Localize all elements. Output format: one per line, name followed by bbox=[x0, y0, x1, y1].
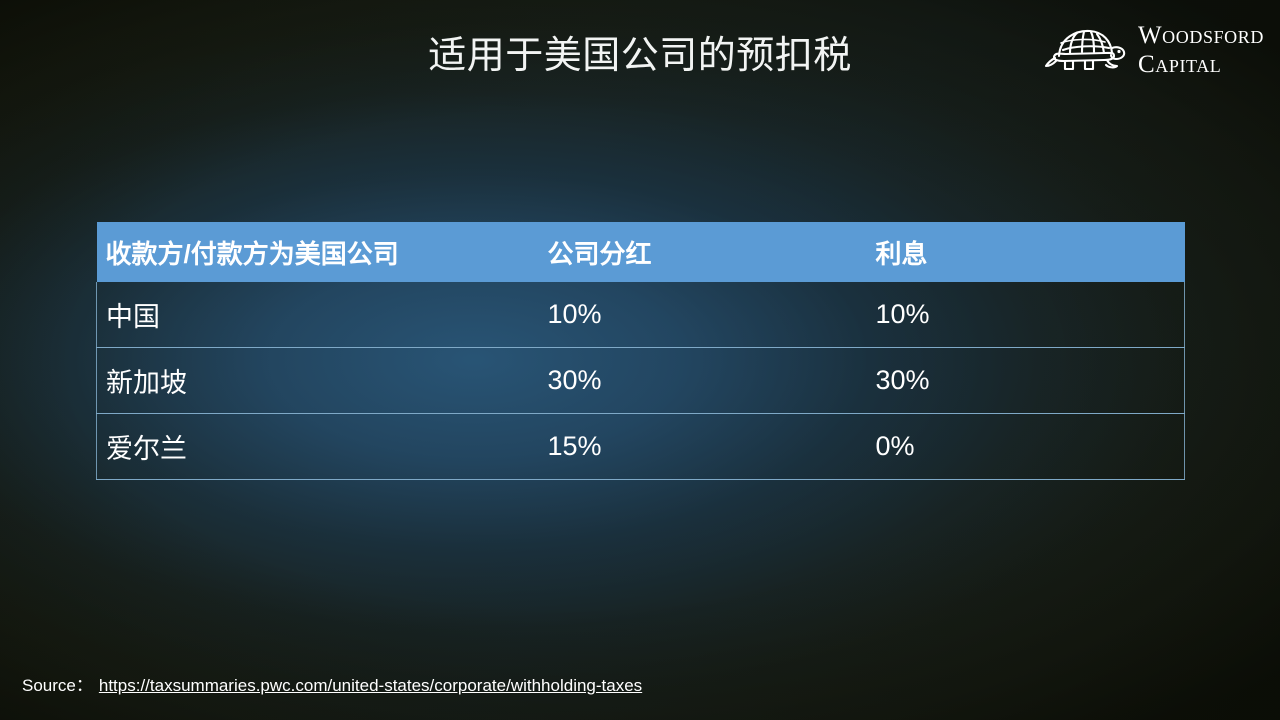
cell-dividends: 30% bbox=[539, 348, 867, 414]
logo-line-woodsford: Woodsford bbox=[1138, 23, 1264, 48]
column-header-interest: 利息 bbox=[867, 222, 1185, 282]
cell-interest: 0% bbox=[867, 414, 1185, 480]
brand-logo: Woodsford Capital bbox=[1043, 22, 1264, 78]
withholding-tax-table: 收款方/付款方为美国公司 公司分红 利息 中国 10% 10% 新加坡 30% … bbox=[96, 222, 1185, 480]
cell-country: 中国 bbox=[97, 282, 539, 348]
table-header-row: 收款方/付款方为美国公司 公司分红 利息 bbox=[97, 222, 1185, 282]
logo-wordmark: Woodsford Capital bbox=[1138, 23, 1264, 77]
column-header-dividends: 公司分红 bbox=[539, 222, 867, 282]
cell-dividends: 15% bbox=[539, 414, 867, 480]
cell-interest: 10% bbox=[867, 282, 1185, 348]
table-row: 中国 10% 10% bbox=[97, 282, 1185, 348]
source-footer: Source：https://taxsummaries.pwc.com/unit… bbox=[22, 671, 642, 696]
logo-line-capital: Capital bbox=[1138, 52, 1264, 77]
source-link[interactable]: https://taxsummaries.pwc.com/united-stat… bbox=[99, 676, 642, 695]
column-header-recipient: 收款方/付款方为美国公司 bbox=[97, 222, 539, 282]
source-label: Source： bbox=[22, 676, 93, 695]
table-row: 新加坡 30% 30% bbox=[97, 348, 1185, 414]
cell-interest: 30% bbox=[867, 348, 1185, 414]
cell-country: 爱尔兰 bbox=[97, 414, 539, 480]
turtle-icon bbox=[1043, 22, 1129, 78]
cell-dividends: 10% bbox=[539, 282, 867, 348]
slide-canvas: 适用于美国公司的预扣税 bbox=[0, 0, 1280, 720]
cell-country: 新加坡 bbox=[97, 348, 539, 414]
table-row: 爱尔兰 15% 0% bbox=[97, 414, 1185, 480]
